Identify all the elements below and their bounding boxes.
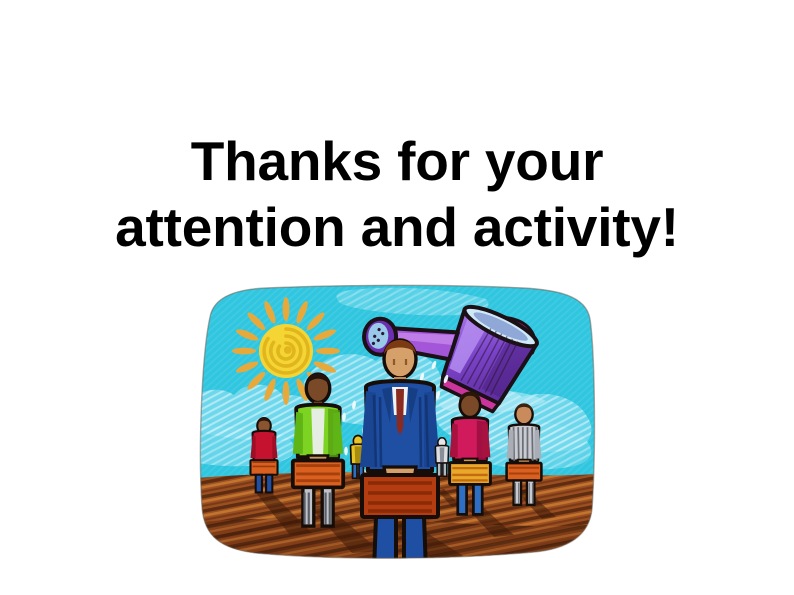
figure-torso (253, 431, 276, 461)
page-title: Thanks for your attention and activity! (0, 128, 794, 260)
figure-briefcase (507, 463, 542, 480)
title-line-2: attention and activity! (0, 194, 794, 260)
watering-can-team-illustration (194, 283, 600, 561)
figure-tie (396, 389, 404, 435)
illustration-scene (194, 283, 600, 561)
figure-shirt-front (311, 408, 324, 457)
slide-canvas: Thanks for your attention and activity! (0, 0, 794, 595)
title-line-1: Thanks for your (0, 128, 794, 194)
